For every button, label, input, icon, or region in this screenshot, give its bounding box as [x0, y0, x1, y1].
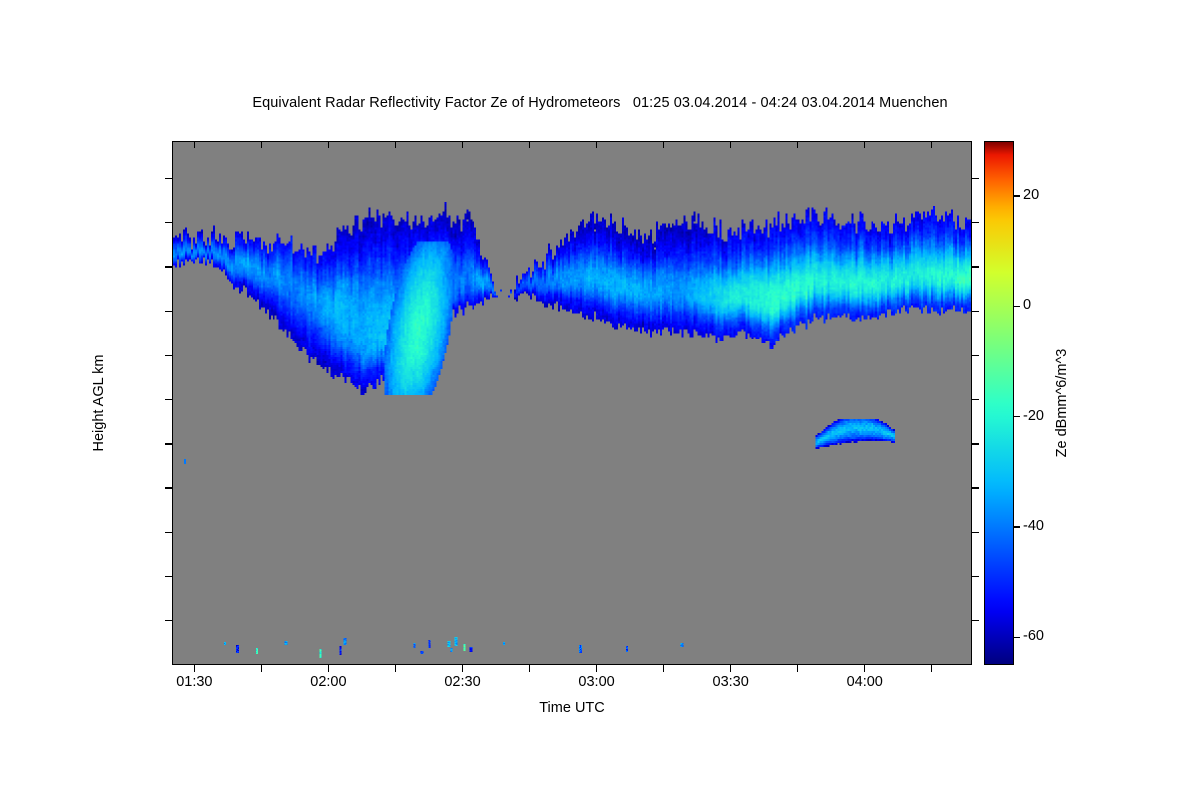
x-tick [864, 665, 865, 672]
x-tick [395, 665, 396, 672]
x-tick-top [797, 141, 798, 148]
x-axis-label: Time UTC [0, 700, 1144, 716]
colorbar-tick-label: 0 [1023, 297, 1031, 313]
x-tick [596, 665, 597, 672]
colorbar-tick [1014, 637, 1020, 638]
y-tick [165, 355, 172, 356]
y-tick [165, 532, 172, 533]
x-tick [462, 665, 463, 672]
y-tick [165, 311, 172, 312]
y-tick-right [972, 443, 979, 444]
colorbar-tick-label: -20 [1023, 408, 1044, 424]
colorbar-tick [1014, 195, 1020, 196]
heatmap-canvas [173, 142, 971, 664]
x-tick-top [395, 141, 396, 148]
y-tick-right [972, 266, 979, 267]
x-tick-top [931, 141, 932, 148]
y-tick-right [972, 399, 979, 400]
y-tick [165, 222, 172, 223]
y-axis-label: Height AGL km [91, 355, 107, 452]
colorbar-tick-label: -40 [1023, 518, 1044, 534]
x-tick [529, 665, 530, 672]
x-tick-top [529, 141, 530, 148]
y-tick-right [972, 487, 979, 488]
x-tick [261, 665, 262, 672]
y-tick-right [972, 620, 979, 621]
y-tick-right [972, 311, 979, 312]
x-tick-top [261, 141, 262, 148]
x-tick [194, 665, 195, 672]
x-tick-label: 01:30 [134, 674, 254, 690]
heatmap-canvas-wrap [173, 142, 971, 664]
y-tick-right [972, 532, 979, 533]
figure-root: Equivalent Radar Reflectivity Factor Ze … [0, 0, 1200, 800]
x-tick-top [663, 141, 664, 148]
y-tick-right [972, 178, 979, 179]
y-tick [165, 487, 172, 488]
y-tick-right [972, 355, 979, 356]
colorbar-tick-label: 20 [1023, 187, 1039, 203]
colorbar[interactable] [984, 141, 1014, 665]
x-tick-label: 02:00 [268, 674, 388, 690]
colorbar-tick [1014, 416, 1020, 417]
radar-heatmap-plot[interactable] [172, 141, 972, 665]
y-tick-right [972, 576, 979, 577]
chart-title: Equivalent Radar Reflectivity Factor Ze … [0, 95, 1200, 111]
x-tick-label: 02:30 [403, 674, 523, 690]
y-tick [165, 399, 172, 400]
x-tick-top [194, 141, 195, 148]
colorbar-tick [1014, 526, 1020, 527]
y-tick [165, 178, 172, 179]
x-tick [931, 665, 932, 672]
x-tick [730, 665, 731, 672]
x-tick [663, 665, 664, 672]
colorbar-tick-label: -60 [1023, 628, 1044, 644]
x-tick-label: 03:00 [537, 674, 657, 690]
x-tick-top [328, 141, 329, 148]
x-tick-top [730, 141, 731, 148]
x-tick-top [596, 141, 597, 148]
x-tick [328, 665, 329, 672]
x-tick-label: 04:00 [805, 674, 925, 690]
y-tick-right [972, 222, 979, 223]
colorbar-tick [1014, 306, 1020, 307]
y-tick [165, 266, 172, 267]
x-tick [797, 665, 798, 672]
colorbar-gradient [985, 142, 1013, 664]
y-tick [165, 443, 172, 444]
x-tick-top [864, 141, 865, 148]
x-tick-label: 03:30 [671, 674, 791, 690]
colorbar-label: Ze dBmm^6/m^3 [1054, 349, 1070, 458]
y-tick [165, 620, 172, 621]
y-tick [165, 576, 172, 577]
x-tick-top [462, 141, 463, 148]
